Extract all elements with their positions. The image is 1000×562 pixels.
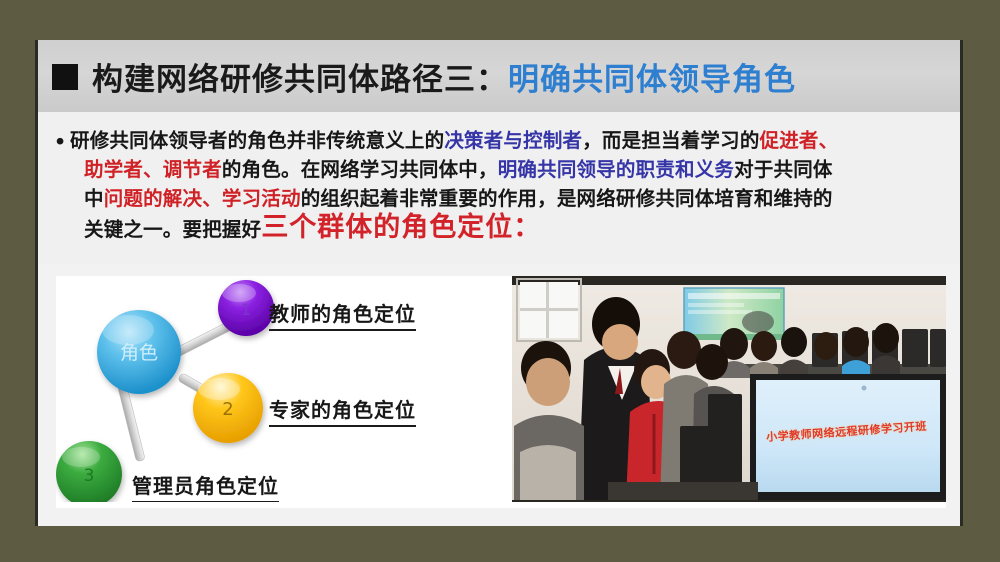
square-bullet-icon <box>52 64 78 90</box>
title-accent: 明确共同体领导角色 <box>508 62 796 98</box>
paragraph-line-3: 中问题的解决、学习活动的组织起着非常重要的作用，是网络研修共同体培育和维持的 <box>70 184 944 213</box>
slide-title-bar: 构建网络研修共同体路径三：明确共同体领导角色 <box>38 40 960 112</box>
paragraph-line-1: 研修共同体领导者的角色并非传统意义上的决策者与控制者，而是担当着学习的促进者、 <box>70 126 944 155</box>
center-node-label: 角色 <box>120 342 158 364</box>
line1-seg3: ，而是担当着学习的 <box>582 129 759 152</box>
line4-seg2: 三个群体的角色定位： <box>261 212 541 243</box>
photo-illustration <box>512 276 946 508</box>
title-main: 构建网络研修共同体路径三 <box>92 62 476 98</box>
node-3-number: 3 <box>84 466 95 486</box>
paragraph-line-4: 关键之一。要把握好三个群体的角色定位： <box>70 213 944 244</box>
classroom-photo: 小学教师网络远程研修学习开班 <box>512 276 946 508</box>
line1-seg2: 决策者与控制者 <box>444 129 582 152</box>
role-diagram: 角色 1 2 <box>56 276 508 508</box>
diagram-label-teacher: 教师的角色定位 <box>269 298 416 331</box>
body-text-block: • 研修共同体领导者的角色并非传统意义上的决策者与控制者，而是担当着学习的促进者… <box>38 112 960 264</box>
bullet-dot-icon: • <box>54 128 66 157</box>
line2-seg3: 明确共同领导的职责和义务 <box>498 158 734 181</box>
panel-bottom-edge <box>56 502 946 508</box>
node-1-number: 1 <box>241 300 251 319</box>
line2-seg2: 的角色。在网络学习共同体中， <box>222 158 498 181</box>
line2-seg4: 对于共同体 <box>734 158 833 181</box>
diagram-label-expert: 专家的角色定位 <box>269 394 416 427</box>
paragraph: • 研修共同体领导者的角色并非传统意义上的决策者与控制者，而是担当着学习的促进者… <box>54 126 944 244</box>
line2-seg1: 助学者、调节者 <box>84 158 222 181</box>
paragraph-line-2: 助学者、调节者的角色。在网络学习共同体中，明确共同领导的职责和义务对于共同体 <box>70 155 944 184</box>
node-2-number: 2 <box>222 399 233 420</box>
content-panel: 角色 1 2 <box>56 276 946 508</box>
line3-seg1: 中 <box>84 187 104 210</box>
slide-stage: 构建网络研修共同体路径三：明确共同体领导角色 • 研修共同体领导者的角色并非传统… <box>0 0 1000 562</box>
diagram-label-administrator: 管理员角色定位 <box>132 470 279 503</box>
title-colon: ： <box>476 62 508 98</box>
page-title: 构建网络研修共同体路径三：明确共同体领导角色 <box>92 54 796 99</box>
line4-seg1: 关键之一。要把握好 <box>84 218 261 241</box>
presentation-slide: 构建网络研修共同体路径三：明确共同体领导角色 • 研修共同体领导者的角色并非传统… <box>35 40 963 526</box>
line1-seg1: 研修共同体领导者的角色并非传统意义上的 <box>70 129 444 152</box>
line3-seg2: 问题的解决、学习活动 <box>104 187 301 210</box>
line1-seg4: 促进者、 <box>760 129 839 152</box>
line3-seg3: 的组织起着非常重要的作用，是网络研修共同体培育和维持的 <box>301 187 833 210</box>
paragraph-lines: 研修共同体领导者的角色并非传统意义上的决策者与控制者，而是担当着学习的促进者、 … <box>54 126 944 244</box>
